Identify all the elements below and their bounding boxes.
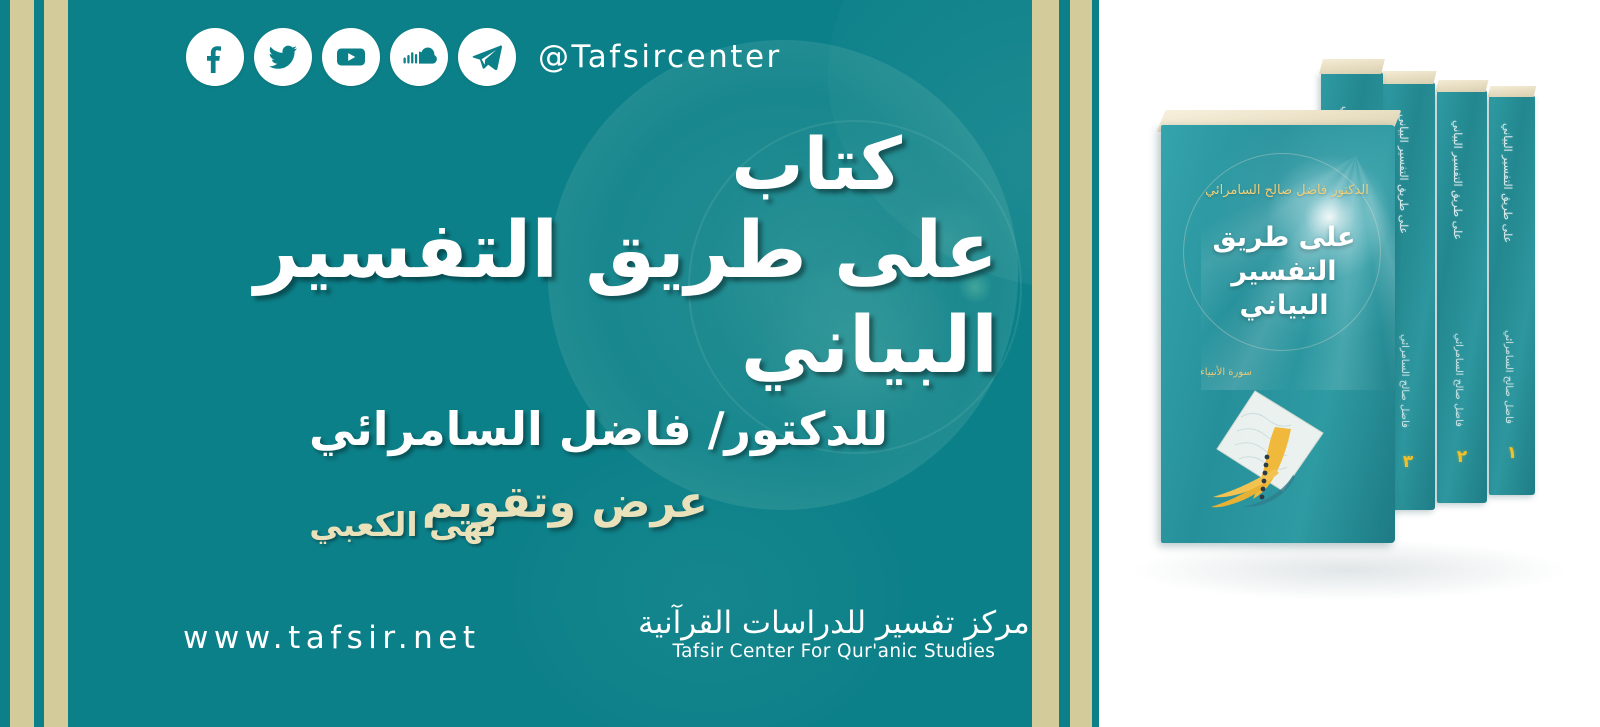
book-front-cover: الدكتور فاضل صالح السامرائي على طريق الت… [1161, 125, 1395, 543]
border-stripe-beige-outer-left [10, 0, 34, 727]
main-teal-panel: @Tafsircenter كتاب على طريق التفسير البي… [68, 0, 1032, 727]
book-image-panel: على طريق التفسير البياني فاضل صالح السام… [1099, 0, 1600, 727]
presenter-name: نهى الكعبي [253, 505, 553, 544]
book-spine-title-2: على طريق التفسير البياني [1452, 120, 1463, 240]
title-kind-line: عرض وتقويم [118, 474, 998, 531]
book-spine-number-2: ٢ [1437, 447, 1487, 467]
title-block: كتاب على طريق التفسير البياني للدكتور/ ف… [118, 126, 998, 531]
title-line-main: على طريق التفسير البياني [118, 204, 998, 394]
book-spine-author-3: فاضل صالح السامرائي [1399, 334, 1409, 428]
border-stripe-teal-outer-left [0, 0, 10, 727]
telegram-icon[interactable] [458, 28, 516, 86]
book-spine-number-1: ١ [1489, 443, 1535, 463]
promo-banner: @Tafsircenter كتاب على طريق التفسير البي… [0, 0, 1600, 727]
youtube-icon[interactable] [322, 28, 380, 86]
cover-ornament-icon [1195, 373, 1345, 523]
book-spine-author-2: فاضل صالح السامرائي [1453, 333, 1463, 427]
twitter-icon[interactable] [254, 28, 312, 86]
social-handle-text: @Tafsircenter [538, 39, 782, 75]
page-edge-3 [1379, 71, 1436, 84]
book-spine-title-1: على طريق التفسير البياني [1502, 123, 1513, 243]
cover-author-text: الدكتور فاضل صالح السامرائي [1201, 183, 1373, 198]
facebook-icon[interactable] [186, 28, 244, 86]
border-stripe-teal-inner-right [1059, 0, 1070, 727]
book-volume-1: على طريق التفسير البياني فاضل صالح السام… [1489, 95, 1535, 495]
page-edge-4 [1319, 59, 1385, 74]
soundcloud-icon[interactable] [390, 28, 448, 86]
logo-english-name: Tafsir Center For Qur'anic Studies [673, 641, 996, 662]
title-author-line: للدكتور/ فاضل السامرائي [118, 398, 998, 460]
book-volume-2: على طريق التفسير البياني فاضل صالح السام… [1437, 90, 1487, 503]
page-edge-1 [1488, 86, 1537, 97]
border-stripe-beige-outer-right [1070, 0, 1092, 727]
logo-arabic-name: مركز تفسير للدراسات القرآنية [638, 608, 1030, 639]
border-stripe-beige-inner-right [1032, 0, 1059, 727]
border-stripe-teal-inner-left [34, 0, 44, 727]
book-spine-title-3: على طريق التفسير البياني [1398, 114, 1409, 234]
book-spine-author-1: فاضل صالح السامرائي [1503, 330, 1513, 424]
social-links-row: @Tafsircenter [186, 28, 782, 86]
title-line-book: كتاب [118, 126, 998, 204]
border-stripe-beige-inner-left [44, 0, 68, 727]
book-set-image: على طريق التفسير البياني فاضل صالح السام… [1099, 0, 1600, 727]
logo-text-stack: مركز تفسير للدراسات القرآنية Tafsir Cent… [638, 608, 1030, 662]
book-drop-shadow [1134, 540, 1564, 600]
tafsir-center-logo[interactable]: مركز تفسير للدراسات القرآنية Tafsir Cent… [638, 590, 1032, 680]
cover-title-text: على طريق التفسير البياني [1189, 221, 1379, 322]
website-url[interactable]: www.tafsir.net [183, 620, 481, 656]
page-edge-2 [1436, 80, 1489, 92]
border-stripe-teal-outer-right [1092, 0, 1099, 727]
